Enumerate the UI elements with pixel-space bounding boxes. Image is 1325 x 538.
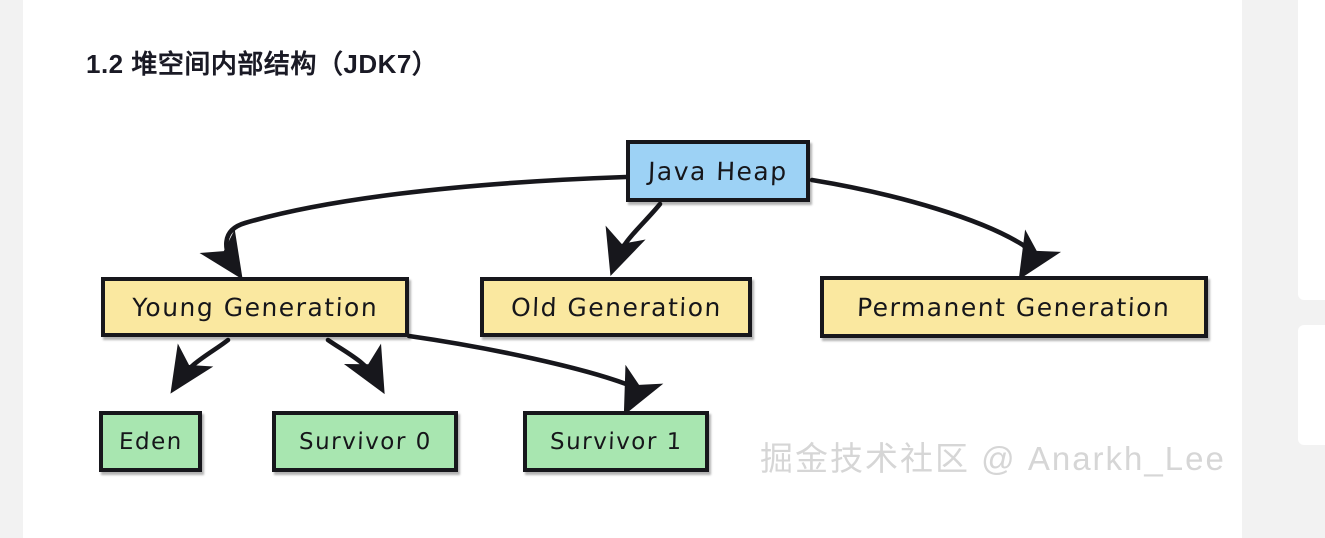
node-label-java-heap: Java Heap	[648, 157, 789, 186]
page-root: 1.2 堆空间内部结构（JDK7） Java Heap Young Genera…	[0, 0, 1325, 538]
arrow-heap-to-old	[615, 204, 660, 263]
node-label-old-generation: Old Generation	[510, 293, 722, 322]
node-label-young-generation: Young Generation	[131, 293, 378, 322]
node-old-generation[interactable]: Old Generation	[480, 277, 752, 337]
node-young-generation[interactable]: Young Generation	[101, 277, 409, 337]
node-java-heap[interactable]: Java Heap	[626, 140, 810, 202]
right-gutter-panel-bottom	[1298, 325, 1325, 445]
node-survivor-1[interactable]: Survivor 1	[523, 411, 709, 472]
page-title: 1.2 堆空间内部结构（JDK7）	[86, 44, 438, 81]
right-gutter-panel-top	[1298, 0, 1325, 300]
arrow-heap-to-young	[226, 177, 626, 268]
node-label-survivor-1: Survivor 1	[549, 429, 683, 455]
node-label-permanent-generation: Permanent Generation	[857, 293, 1171, 322]
node-survivor-0[interactable]: Survivor 0	[272, 411, 458, 472]
node-permanent-generation[interactable]: Permanent Generation	[820, 276, 1208, 338]
arrow-young-to-survivor0	[328, 340, 378, 382]
watermark: 掘金技术社区 @ Anarkh_Lee	[760, 432, 1226, 480]
arrow-heap-to-permanent	[812, 180, 1030, 268]
node-label-eden: Eden	[118, 429, 183, 455]
arrow-young-to-eden	[178, 340, 228, 382]
node-eden[interactable]: Eden	[99, 411, 202, 472]
node-label-survivor-0: Survivor 0	[298, 429, 432, 455]
arrow-young-to-survivor1	[409, 336, 633, 403]
